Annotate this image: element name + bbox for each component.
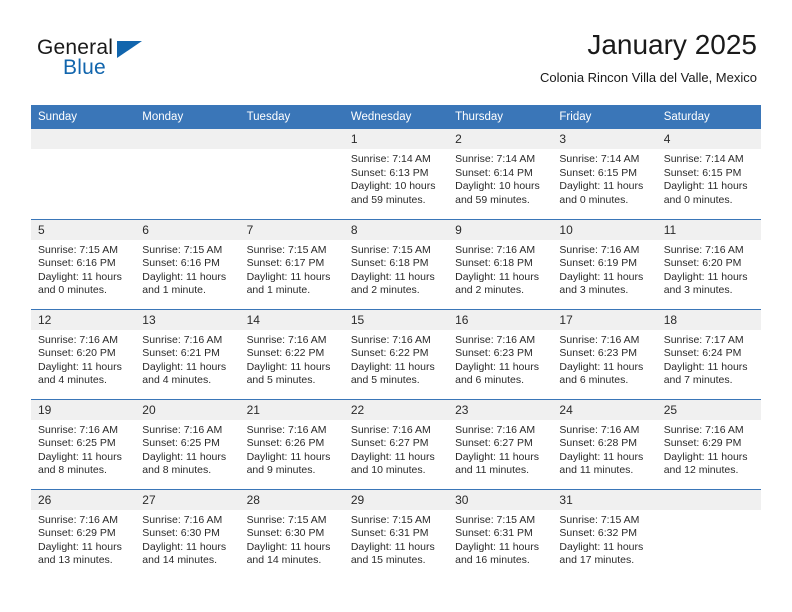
day-detail-line: Sunrise: 7:16 AM: [559, 424, 648, 438]
day-detail-line: Daylight: 11 hours: [664, 180, 753, 194]
calendar-day-cell[interactable]: 14Sunrise: 7:16 AMSunset: 6:22 PMDayligh…: [240, 309, 344, 399]
day-number: 5: [31, 220, 135, 240]
day-number: 19: [31, 400, 135, 420]
calendar-day-cell-empty: [657, 489, 761, 579]
calendar-page: General Blue January 2025 Colonia Rincon…: [0, 0, 792, 612]
day-detail-line: Daylight: 11 hours: [559, 271, 648, 285]
day-number: 28: [240, 490, 344, 510]
day-details: Sunrise: 7:16 AMSunset: 6:22 PMDaylight:…: [344, 330, 448, 388]
day-detail-line: Sunrise: 7:16 AM: [664, 244, 753, 258]
day-details: Sunrise: 7:15 AMSunset: 6:31 PMDaylight:…: [448, 510, 552, 568]
day-details: Sunrise: 7:16 AMSunset: 6:25 PMDaylight:…: [135, 420, 239, 478]
day-detail-line: Sunrise: 7:16 AM: [455, 424, 544, 438]
day-details: Sunrise: 7:15 AMSunset: 6:30 PMDaylight:…: [240, 510, 344, 568]
day-detail-line: Daylight: 11 hours: [142, 541, 231, 555]
calendar-table: SundayMondayTuesdayWednesdayThursdayFrid…: [31, 105, 761, 579]
day-detail-line: and 59 minutes.: [455, 194, 544, 208]
day-number: 18: [657, 310, 761, 330]
day-detail-line: Sunrise: 7:16 AM: [142, 334, 231, 348]
page-title: January 2025: [540, 28, 757, 62]
day-detail-line: Sunset: 6:24 PM: [664, 347, 753, 361]
day-number: 22: [344, 400, 448, 420]
calendar-day-cell[interactable]: 12Sunrise: 7:16 AMSunset: 6:20 PMDayligh…: [31, 309, 135, 399]
day-number: 6: [135, 220, 239, 240]
day-details: Sunrise: 7:17 AMSunset: 6:24 PMDaylight:…: [657, 330, 761, 388]
day-detail-line: Daylight: 11 hours: [142, 451, 231, 465]
day-details: Sunrise: 7:16 AMSunset: 6:22 PMDaylight:…: [240, 330, 344, 388]
day-detail-line: and 5 minutes.: [351, 374, 440, 388]
day-details: Sunrise: 7:16 AMSunset: 6:29 PMDaylight:…: [31, 510, 135, 568]
day-detail-line: and 1 minute.: [247, 284, 336, 298]
day-detail-line: and 2 minutes.: [455, 284, 544, 298]
day-number: 9: [448, 220, 552, 240]
day-detail-line: and 0 minutes.: [38, 284, 127, 298]
day-details: Sunrise: 7:16 AMSunset: 6:29 PMDaylight:…: [657, 420, 761, 478]
day-number: [135, 129, 239, 149]
day-number: 8: [344, 220, 448, 240]
calendar-day-cell[interactable]: 9Sunrise: 7:16 AMSunset: 6:18 PMDaylight…: [448, 219, 552, 309]
calendar-day-cell[interactable]: 6Sunrise: 7:15 AMSunset: 6:16 PMDaylight…: [135, 219, 239, 309]
calendar-day-cell-empty: [31, 129, 135, 219]
day-details: Sunrise: 7:14 AMSunset: 6:15 PMDaylight:…: [657, 149, 761, 207]
day-details: Sunrise: 7:16 AMSunset: 6:30 PMDaylight:…: [135, 510, 239, 568]
day-detail-line: Daylight: 10 hours: [351, 180, 440, 194]
calendar-day-cell[interactable]: 24Sunrise: 7:16 AMSunset: 6:28 PMDayligh…: [552, 399, 656, 489]
day-detail-line: Sunrise: 7:15 AM: [455, 514, 544, 528]
day-detail-line: Daylight: 11 hours: [142, 271, 231, 285]
day-details: Sunrise: 7:15 AMSunset: 6:18 PMDaylight:…: [344, 240, 448, 298]
day-detail-line: and 14 minutes.: [142, 554, 231, 568]
day-detail-line: and 11 minutes.: [455, 464, 544, 478]
day-number: 14: [240, 310, 344, 330]
calendar-week-row: 1Sunrise: 7:14 AMSunset: 6:13 PMDaylight…: [31, 129, 761, 219]
day-number: 26: [31, 490, 135, 510]
day-detail-line: Sunrise: 7:14 AM: [559, 153, 648, 167]
day-detail-line: and 17 minutes.: [559, 554, 648, 568]
day-detail-line: and 5 minutes.: [247, 374, 336, 388]
calendar-day-cell[interactable]: 13Sunrise: 7:16 AMSunset: 6:21 PMDayligh…: [135, 309, 239, 399]
day-detail-line: Sunset: 6:20 PM: [38, 347, 127, 361]
day-detail-line: and 12 minutes.: [664, 464, 753, 478]
day-detail-line: Sunset: 6:21 PM: [142, 347, 231, 361]
calendar-day-cell[interactable]: 31Sunrise: 7:15 AMSunset: 6:32 PMDayligh…: [552, 489, 656, 579]
day-detail-line: and 10 minutes.: [351, 464, 440, 478]
calendar-day-cell[interactable]: 8Sunrise: 7:15 AMSunset: 6:18 PMDaylight…: [344, 219, 448, 309]
day-detail-line: Sunset: 6:31 PM: [351, 527, 440, 541]
day-detail-line: and 4 minutes.: [142, 374, 231, 388]
day-detail-line: Sunset: 6:16 PM: [38, 257, 127, 271]
day-detail-line: Sunrise: 7:16 AM: [351, 334, 440, 348]
calendar-day-cell[interactable]: 21Sunrise: 7:16 AMSunset: 6:26 PMDayligh…: [240, 399, 344, 489]
day-number: 12: [31, 310, 135, 330]
weekday-header-wednesday: Wednesday: [344, 105, 448, 129]
day-detail-line: Sunrise: 7:16 AM: [38, 334, 127, 348]
day-detail-line: Sunset: 6:15 PM: [559, 167, 648, 181]
day-number: 10: [552, 220, 656, 240]
day-detail-line: Daylight: 11 hours: [664, 451, 753, 465]
calendar-day-cell[interactable]: 22Sunrise: 7:16 AMSunset: 6:27 PMDayligh…: [344, 399, 448, 489]
day-detail-line: and 13 minutes.: [38, 554, 127, 568]
day-details: Sunrise: 7:16 AMSunset: 6:20 PMDaylight:…: [657, 240, 761, 298]
day-number: 2: [448, 129, 552, 149]
day-detail-line: Sunrise: 7:16 AM: [247, 334, 336, 348]
day-detail-line: Sunrise: 7:16 AM: [38, 424, 127, 438]
day-detail-line: Sunrise: 7:15 AM: [247, 514, 336, 528]
calendar-day-cell[interactable]: 20Sunrise: 7:16 AMSunset: 6:25 PMDayligh…: [135, 399, 239, 489]
day-detail-line: Daylight: 11 hours: [38, 361, 127, 375]
calendar-day-cell[interactable]: 15Sunrise: 7:16 AMSunset: 6:22 PMDayligh…: [344, 309, 448, 399]
day-detail-line: Sunset: 6:18 PM: [351, 257, 440, 271]
weekday-header: SundayMondayTuesdayWednesdayThursdayFrid…: [31, 105, 761, 129]
day-details: Sunrise: 7:16 AMSunset: 6:18 PMDaylight:…: [448, 240, 552, 298]
title-block: January 2025 Colonia Rincon Villa del Va…: [540, 28, 757, 87]
day-number: 31: [552, 490, 656, 510]
calendar-day-cell-empty: [240, 129, 344, 219]
brand-name-blue: Blue: [63, 56, 106, 80]
day-detail-line: Sunset: 6:30 PM: [142, 527, 231, 541]
day-detail-line: Daylight: 11 hours: [247, 451, 336, 465]
day-detail-line: Sunrise: 7:16 AM: [142, 424, 231, 438]
day-number: 27: [135, 490, 239, 510]
day-detail-line: Sunset: 6:27 PM: [351, 437, 440, 451]
day-detail-line: and 1 minute.: [142, 284, 231, 298]
calendar-header-row: SundayMondayTuesdayWednesdayThursdayFrid…: [31, 105, 761, 129]
day-detail-line: Daylight: 11 hours: [559, 451, 648, 465]
calendar-week-row: 5Sunrise: 7:15 AMSunset: 6:16 PMDaylight…: [31, 219, 761, 309]
day-detail-line: Sunrise: 7:17 AM: [664, 334, 753, 348]
day-detail-line: and 11 minutes.: [559, 464, 648, 478]
calendar-day-cell[interactable]: 28Sunrise: 7:15 AMSunset: 6:30 PMDayligh…: [240, 489, 344, 579]
day-detail-line: and 16 minutes.: [455, 554, 544, 568]
calendar-day-cell[interactable]: 25Sunrise: 7:16 AMSunset: 6:29 PMDayligh…: [657, 399, 761, 489]
weekday-header-thursday: Thursday: [448, 105, 552, 129]
day-detail-line: Daylight: 11 hours: [455, 541, 544, 555]
day-detail-line: Daylight: 11 hours: [559, 541, 648, 555]
day-details: Sunrise: 7:16 AMSunset: 6:19 PMDaylight:…: [552, 240, 656, 298]
day-details: Sunrise: 7:14 AMSunset: 6:13 PMDaylight:…: [344, 149, 448, 207]
weekday-header-saturday: Saturday: [657, 105, 761, 129]
day-detail-line: Sunrise: 7:16 AM: [455, 334, 544, 348]
day-details: Sunrise: 7:15 AMSunset: 6:31 PMDaylight:…: [344, 510, 448, 568]
day-detail-line: Sunset: 6:14 PM: [455, 167, 544, 181]
day-detail-line: Daylight: 11 hours: [559, 180, 648, 194]
day-detail-line: Daylight: 11 hours: [247, 271, 336, 285]
calendar-day-cell[interactable]: 27Sunrise: 7:16 AMSunset: 6:30 PMDayligh…: [135, 489, 239, 579]
day-detail-line: Daylight: 11 hours: [38, 541, 127, 555]
day-number: 25: [657, 400, 761, 420]
day-detail-line: Sunrise: 7:15 AM: [38, 244, 127, 258]
day-detail-line: Sunrise: 7:15 AM: [142, 244, 231, 258]
day-details: Sunrise: 7:15 AMSunset: 6:32 PMDaylight:…: [552, 510, 656, 568]
day-detail-line: Daylight: 11 hours: [664, 271, 753, 285]
day-detail-line: Daylight: 11 hours: [664, 361, 753, 375]
day-detail-line: Sunset: 6:23 PM: [455, 347, 544, 361]
day-detail-line: Daylight: 11 hours: [455, 451, 544, 465]
calendar-week-row: 26Sunrise: 7:16 AMSunset: 6:29 PMDayligh…: [31, 489, 761, 579]
day-detail-line: Sunset: 6:27 PM: [455, 437, 544, 451]
day-detail-line: and 7 minutes.: [664, 374, 753, 388]
day-detail-line: and 9 minutes.: [247, 464, 336, 478]
day-detail-line: Sunrise: 7:16 AM: [351, 424, 440, 438]
calendar-day-cell[interactable]: 19Sunrise: 7:16 AMSunset: 6:25 PMDayligh…: [31, 399, 135, 489]
day-detail-line: and 6 minutes.: [455, 374, 544, 388]
calendar-day-cell[interactable]: 16Sunrise: 7:16 AMSunset: 6:23 PMDayligh…: [448, 309, 552, 399]
day-detail-line: Sunset: 6:29 PM: [38, 527, 127, 541]
day-details: Sunrise: 7:16 AMSunset: 6:28 PMDaylight:…: [552, 420, 656, 478]
day-details: Sunrise: 7:15 AMSunset: 6:16 PMDaylight:…: [31, 240, 135, 298]
day-details: Sunrise: 7:16 AMSunset: 6:26 PMDaylight:…: [240, 420, 344, 478]
page-header: General Blue January 2025 Colonia Rincon…: [0, 0, 792, 100]
calendar-day-cell[interactable]: 1Sunrise: 7:14 AMSunset: 6:13 PMDaylight…: [344, 129, 448, 219]
day-detail-line: Sunset: 6:25 PM: [38, 437, 127, 451]
day-detail-line: Sunset: 6:28 PM: [559, 437, 648, 451]
day-detail-line: Sunset: 6:26 PM: [247, 437, 336, 451]
day-detail-line: Sunrise: 7:16 AM: [559, 334, 648, 348]
day-detail-line: and 8 minutes.: [142, 464, 231, 478]
day-number: 15: [344, 310, 448, 330]
day-number: 24: [552, 400, 656, 420]
calendar-day-cell[interactable]: 26Sunrise: 7:16 AMSunset: 6:29 PMDayligh…: [31, 489, 135, 579]
day-number: 3: [552, 129, 656, 149]
day-detail-line: Sunset: 6:30 PM: [247, 527, 336, 541]
calendar-day-cell[interactable]: 7Sunrise: 7:15 AMSunset: 6:17 PMDaylight…: [240, 219, 344, 309]
day-detail-line: Sunset: 6:25 PM: [142, 437, 231, 451]
weekday-header-friday: Friday: [552, 105, 656, 129]
day-details: Sunrise: 7:14 AMSunset: 6:15 PMDaylight:…: [552, 149, 656, 207]
day-detail-line: and 6 minutes.: [559, 374, 648, 388]
day-detail-line: Sunset: 6:17 PM: [247, 257, 336, 271]
calendar-day-cell[interactable]: 2Sunrise: 7:14 AMSunset: 6:14 PMDaylight…: [448, 129, 552, 219]
day-number: 13: [135, 310, 239, 330]
day-details: Sunrise: 7:16 AMSunset: 6:21 PMDaylight:…: [135, 330, 239, 388]
day-detail-line: Sunrise: 7:15 AM: [351, 244, 440, 258]
triangle-icon: [117, 41, 142, 58]
day-details: Sunrise: 7:15 AMSunset: 6:17 PMDaylight:…: [240, 240, 344, 298]
brand-logo[interactable]: General Blue: [37, 36, 167, 84]
calendar-day-cell[interactable]: 5Sunrise: 7:15 AMSunset: 6:16 PMDaylight…: [31, 219, 135, 309]
day-detail-line: Sunrise: 7:14 AM: [455, 153, 544, 167]
day-detail-line: Sunrise: 7:14 AM: [351, 153, 440, 167]
calendar-day-cell[interactable]: 30Sunrise: 7:15 AMSunset: 6:31 PMDayligh…: [448, 489, 552, 579]
day-detail-line: Daylight: 11 hours: [351, 541, 440, 555]
day-detail-line: Sunset: 6:18 PM: [455, 257, 544, 271]
day-details: Sunrise: 7:14 AMSunset: 6:14 PMDaylight:…: [448, 149, 552, 207]
day-number: 29: [344, 490, 448, 510]
calendar-day-cell[interactable]: 17Sunrise: 7:16 AMSunset: 6:23 PMDayligh…: [552, 309, 656, 399]
day-number: 30: [448, 490, 552, 510]
calendar-body: 1Sunrise: 7:14 AMSunset: 6:13 PMDaylight…: [31, 129, 761, 579]
calendar-day-cell[interactable]: 23Sunrise: 7:16 AMSunset: 6:27 PMDayligh…: [448, 399, 552, 489]
calendar-day-cell-empty: [135, 129, 239, 219]
day-detail-line: Sunrise: 7:16 AM: [142, 514, 231, 528]
day-detail-line: Sunrise: 7:15 AM: [559, 514, 648, 528]
day-details: Sunrise: 7:16 AMSunset: 6:27 PMDaylight:…: [448, 420, 552, 478]
day-details: Sunrise: 7:16 AMSunset: 6:23 PMDaylight:…: [448, 330, 552, 388]
weekday-header-sunday: Sunday: [31, 105, 135, 129]
day-detail-line: Sunrise: 7:15 AM: [351, 514, 440, 528]
weekday-header-tuesday: Tuesday: [240, 105, 344, 129]
day-detail-line: Daylight: 11 hours: [38, 451, 127, 465]
day-details: Sunrise: 7:16 AMSunset: 6:20 PMDaylight:…: [31, 330, 135, 388]
calendar-day-cell[interactable]: 29Sunrise: 7:15 AMSunset: 6:31 PMDayligh…: [344, 489, 448, 579]
day-detail-line: Daylight: 11 hours: [142, 361, 231, 375]
calendar-week-row: 19Sunrise: 7:16 AMSunset: 6:25 PMDayligh…: [31, 399, 761, 489]
day-number: [31, 129, 135, 149]
day-detail-line: Sunset: 6:13 PM: [351, 167, 440, 181]
day-detail-line: Sunset: 6:22 PM: [247, 347, 336, 361]
day-number: [657, 490, 761, 510]
day-detail-line: Sunset: 6:15 PM: [664, 167, 753, 181]
day-details: Sunrise: 7:16 AMSunset: 6:23 PMDaylight:…: [552, 330, 656, 388]
day-detail-line: Sunset: 6:16 PM: [142, 257, 231, 271]
day-detail-line: Sunrise: 7:16 AM: [559, 244, 648, 258]
day-number: 23: [448, 400, 552, 420]
day-detail-line: and 2 minutes.: [351, 284, 440, 298]
day-number: 1: [344, 129, 448, 149]
day-detail-line: and 0 minutes.: [664, 194, 753, 208]
day-detail-line: Daylight: 11 hours: [351, 361, 440, 375]
day-detail-line: and 3 minutes.: [559, 284, 648, 298]
day-detail-line: Daylight: 10 hours: [455, 180, 544, 194]
day-number: [240, 129, 344, 149]
day-detail-line: Daylight: 11 hours: [455, 271, 544, 285]
day-detail-line: Sunrise: 7:16 AM: [38, 514, 127, 528]
day-detail-line: Daylight: 11 hours: [351, 271, 440, 285]
day-detail-line: Sunset: 6:20 PM: [664, 257, 753, 271]
day-detail-line: and 8 minutes.: [38, 464, 127, 478]
day-detail-line: and 59 minutes.: [351, 194, 440, 208]
day-detail-line: Sunset: 6:32 PM: [559, 527, 648, 541]
day-details: Sunrise: 7:15 AMSunset: 6:16 PMDaylight:…: [135, 240, 239, 298]
day-details: Sunrise: 7:16 AMSunset: 6:25 PMDaylight:…: [31, 420, 135, 478]
day-detail-line: Sunset: 6:19 PM: [559, 257, 648, 271]
day-details: Sunrise: 7:16 AMSunset: 6:27 PMDaylight:…: [344, 420, 448, 478]
day-number: 17: [552, 310, 656, 330]
day-detail-line: Sunset: 6:22 PM: [351, 347, 440, 361]
calendar-day-cell[interactable]: 18Sunrise: 7:17 AMSunset: 6:24 PMDayligh…: [657, 309, 761, 399]
day-detail-line: and 3 minutes.: [664, 284, 753, 298]
day-number: 16: [448, 310, 552, 330]
day-detail-line: and 4 minutes.: [38, 374, 127, 388]
day-detail-line: Daylight: 11 hours: [351, 451, 440, 465]
day-number: 21: [240, 400, 344, 420]
day-detail-line: Daylight: 11 hours: [455, 361, 544, 375]
day-detail-line: Sunset: 6:29 PM: [664, 437, 753, 451]
day-detail-line: Sunrise: 7:14 AM: [664, 153, 753, 167]
day-detail-line: Sunset: 6:23 PM: [559, 347, 648, 361]
calendar-week-row: 12Sunrise: 7:16 AMSunset: 6:20 PMDayligh…: [31, 309, 761, 399]
day-detail-line: Daylight: 11 hours: [38, 271, 127, 285]
calendar-day-cell[interactable]: 3Sunrise: 7:14 AMSunset: 6:15 PMDaylight…: [552, 129, 656, 219]
day-detail-line: and 15 minutes.: [351, 554, 440, 568]
day-number: 4: [657, 129, 761, 149]
day-number: 7: [240, 220, 344, 240]
day-number: 20: [135, 400, 239, 420]
day-detail-line: Sunrise: 7:16 AM: [247, 424, 336, 438]
calendar-day-cell[interactable]: 10Sunrise: 7:16 AMSunset: 6:19 PMDayligh…: [552, 219, 656, 309]
location-subtitle: Colonia Rincon Villa del Valle, Mexico: [540, 69, 757, 87]
day-detail-line: Sunset: 6:31 PM: [455, 527, 544, 541]
day-number: 11: [657, 220, 761, 240]
calendar-day-cell[interactable]: 11Sunrise: 7:16 AMSunset: 6:20 PMDayligh…: [657, 219, 761, 309]
day-detail-line: Daylight: 11 hours: [247, 361, 336, 375]
calendar-day-cell[interactable]: 4Sunrise: 7:14 AMSunset: 6:15 PMDaylight…: [657, 129, 761, 219]
day-detail-line: and 0 minutes.: [559, 194, 648, 208]
day-detail-line: Sunrise: 7:15 AM: [247, 244, 336, 258]
weekday-header-monday: Monday: [135, 105, 239, 129]
day-detail-line: and 14 minutes.: [247, 554, 336, 568]
day-detail-line: Daylight: 11 hours: [559, 361, 648, 375]
day-detail-line: Sunrise: 7:16 AM: [455, 244, 544, 258]
day-detail-line: Daylight: 11 hours: [247, 541, 336, 555]
day-detail-line: Sunrise: 7:16 AM: [664, 424, 753, 438]
